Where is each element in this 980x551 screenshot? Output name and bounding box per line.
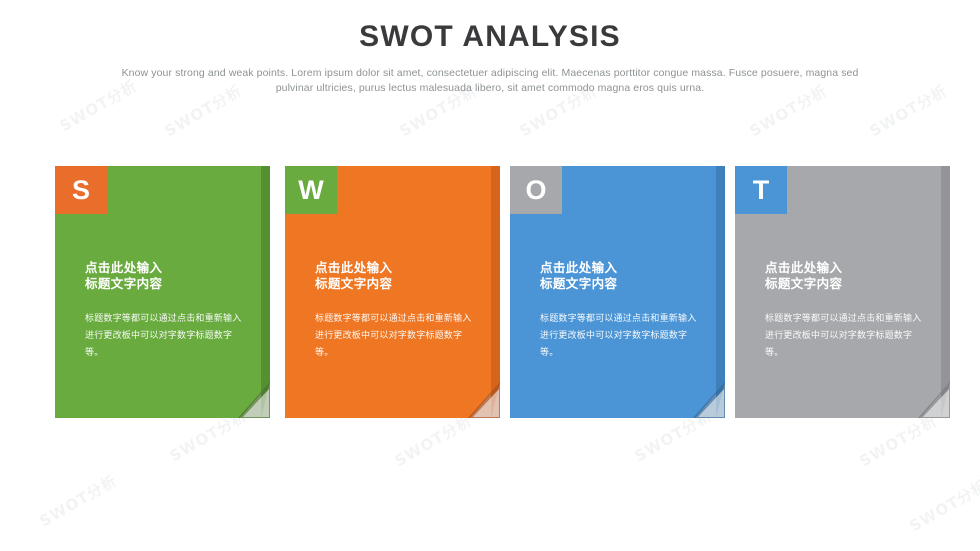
card-description: 标题数字等都可以通过点击和重新输入进行更改板中可以对字数字标题数字等。 — [765, 311, 923, 362]
card-badge-letter: W — [298, 177, 323, 204]
card-badge-letter: T — [753, 177, 770, 204]
card-right-edge — [491, 166, 500, 418]
swot-card-weaknesses[interactable]: W 点击此处输入 标题文字内容 标题数字等都可以通过点击和重新输入进行更改板中可… — [285, 166, 500, 418]
watermark-text: SWOT分析 — [906, 475, 980, 536]
card-text-block: 点击此处输入 标题文字内容 标题数字等都可以通过点击和重新输入进行更改板中可以对… — [315, 260, 473, 362]
watermark-text: SWOT分析 — [36, 470, 121, 531]
card-heading: 点击此处输入 标题文字内容 — [540, 260, 698, 292]
card-right-edge — [941, 166, 950, 418]
card-badge-weaknesses: W — [285, 166, 337, 214]
card-description: 标题数字等都可以通过点击和重新输入进行更改板中可以对字数字标题数字等。 — [540, 311, 698, 362]
card-text-block: 点击此处输入 标题文字内容 标题数字等都可以通过点击和重新输入进行更改板中可以对… — [765, 260, 923, 362]
page-title: SWOT ANALYSIS — [0, 0, 980, 54]
card-description: 标题数字等都可以通过点击和重新输入进行更改板中可以对字数字标题数字等。 — [85, 311, 243, 362]
card-badge-letter: S — [72, 177, 90, 204]
swot-card-opportunities[interactable]: O 点击此处输入 标题文字内容 标题数字等都可以通过点击和重新输入进行更改板中可… — [510, 166, 725, 418]
swot-card-strengths[interactable]: S 点击此处输入 标题文字内容 标题数字等都可以通过点击和重新输入进行更改板中可… — [55, 166, 270, 418]
page-subtitle: Know your strong and weak points. Lorem … — [120, 66, 860, 96]
card-heading: 点击此处输入 标题文字内容 — [85, 260, 243, 292]
card-text-block: 点击此处输入 标题文字内容 标题数字等都可以通过点击和重新输入进行更改板中可以对… — [85, 260, 243, 362]
card-right-edge — [261, 166, 270, 418]
card-heading: 点击此处输入 标题文字内容 — [765, 260, 923, 292]
slide-header: SWOT ANALYSIS Know your strong and weak … — [0, 0, 980, 96]
card-heading: 点击此处输入 标题文字内容 — [315, 260, 473, 292]
card-badge-threats: T — [735, 166, 787, 214]
card-badge-strengths: S — [55, 166, 107, 214]
swot-card-threats[interactable]: T 点击此处输入 标题文字内容 标题数字等都可以通过点击和重新输入进行更改板中可… — [735, 166, 950, 418]
card-text-block: 点击此处输入 标题文字内容 标题数字等都可以通过点击和重新输入进行更改板中可以对… — [540, 260, 698, 362]
card-badge-letter: O — [525, 177, 546, 204]
card-right-edge — [716, 166, 725, 418]
swot-cards-row: S 点击此处输入 标题文字内容 标题数字等都可以通过点击和重新输入进行更改板中可… — [55, 166, 945, 421]
card-badge-opportunities: O — [510, 166, 562, 214]
card-description: 标题数字等都可以通过点击和重新输入进行更改板中可以对字数字标题数字等。 — [315, 311, 473, 362]
